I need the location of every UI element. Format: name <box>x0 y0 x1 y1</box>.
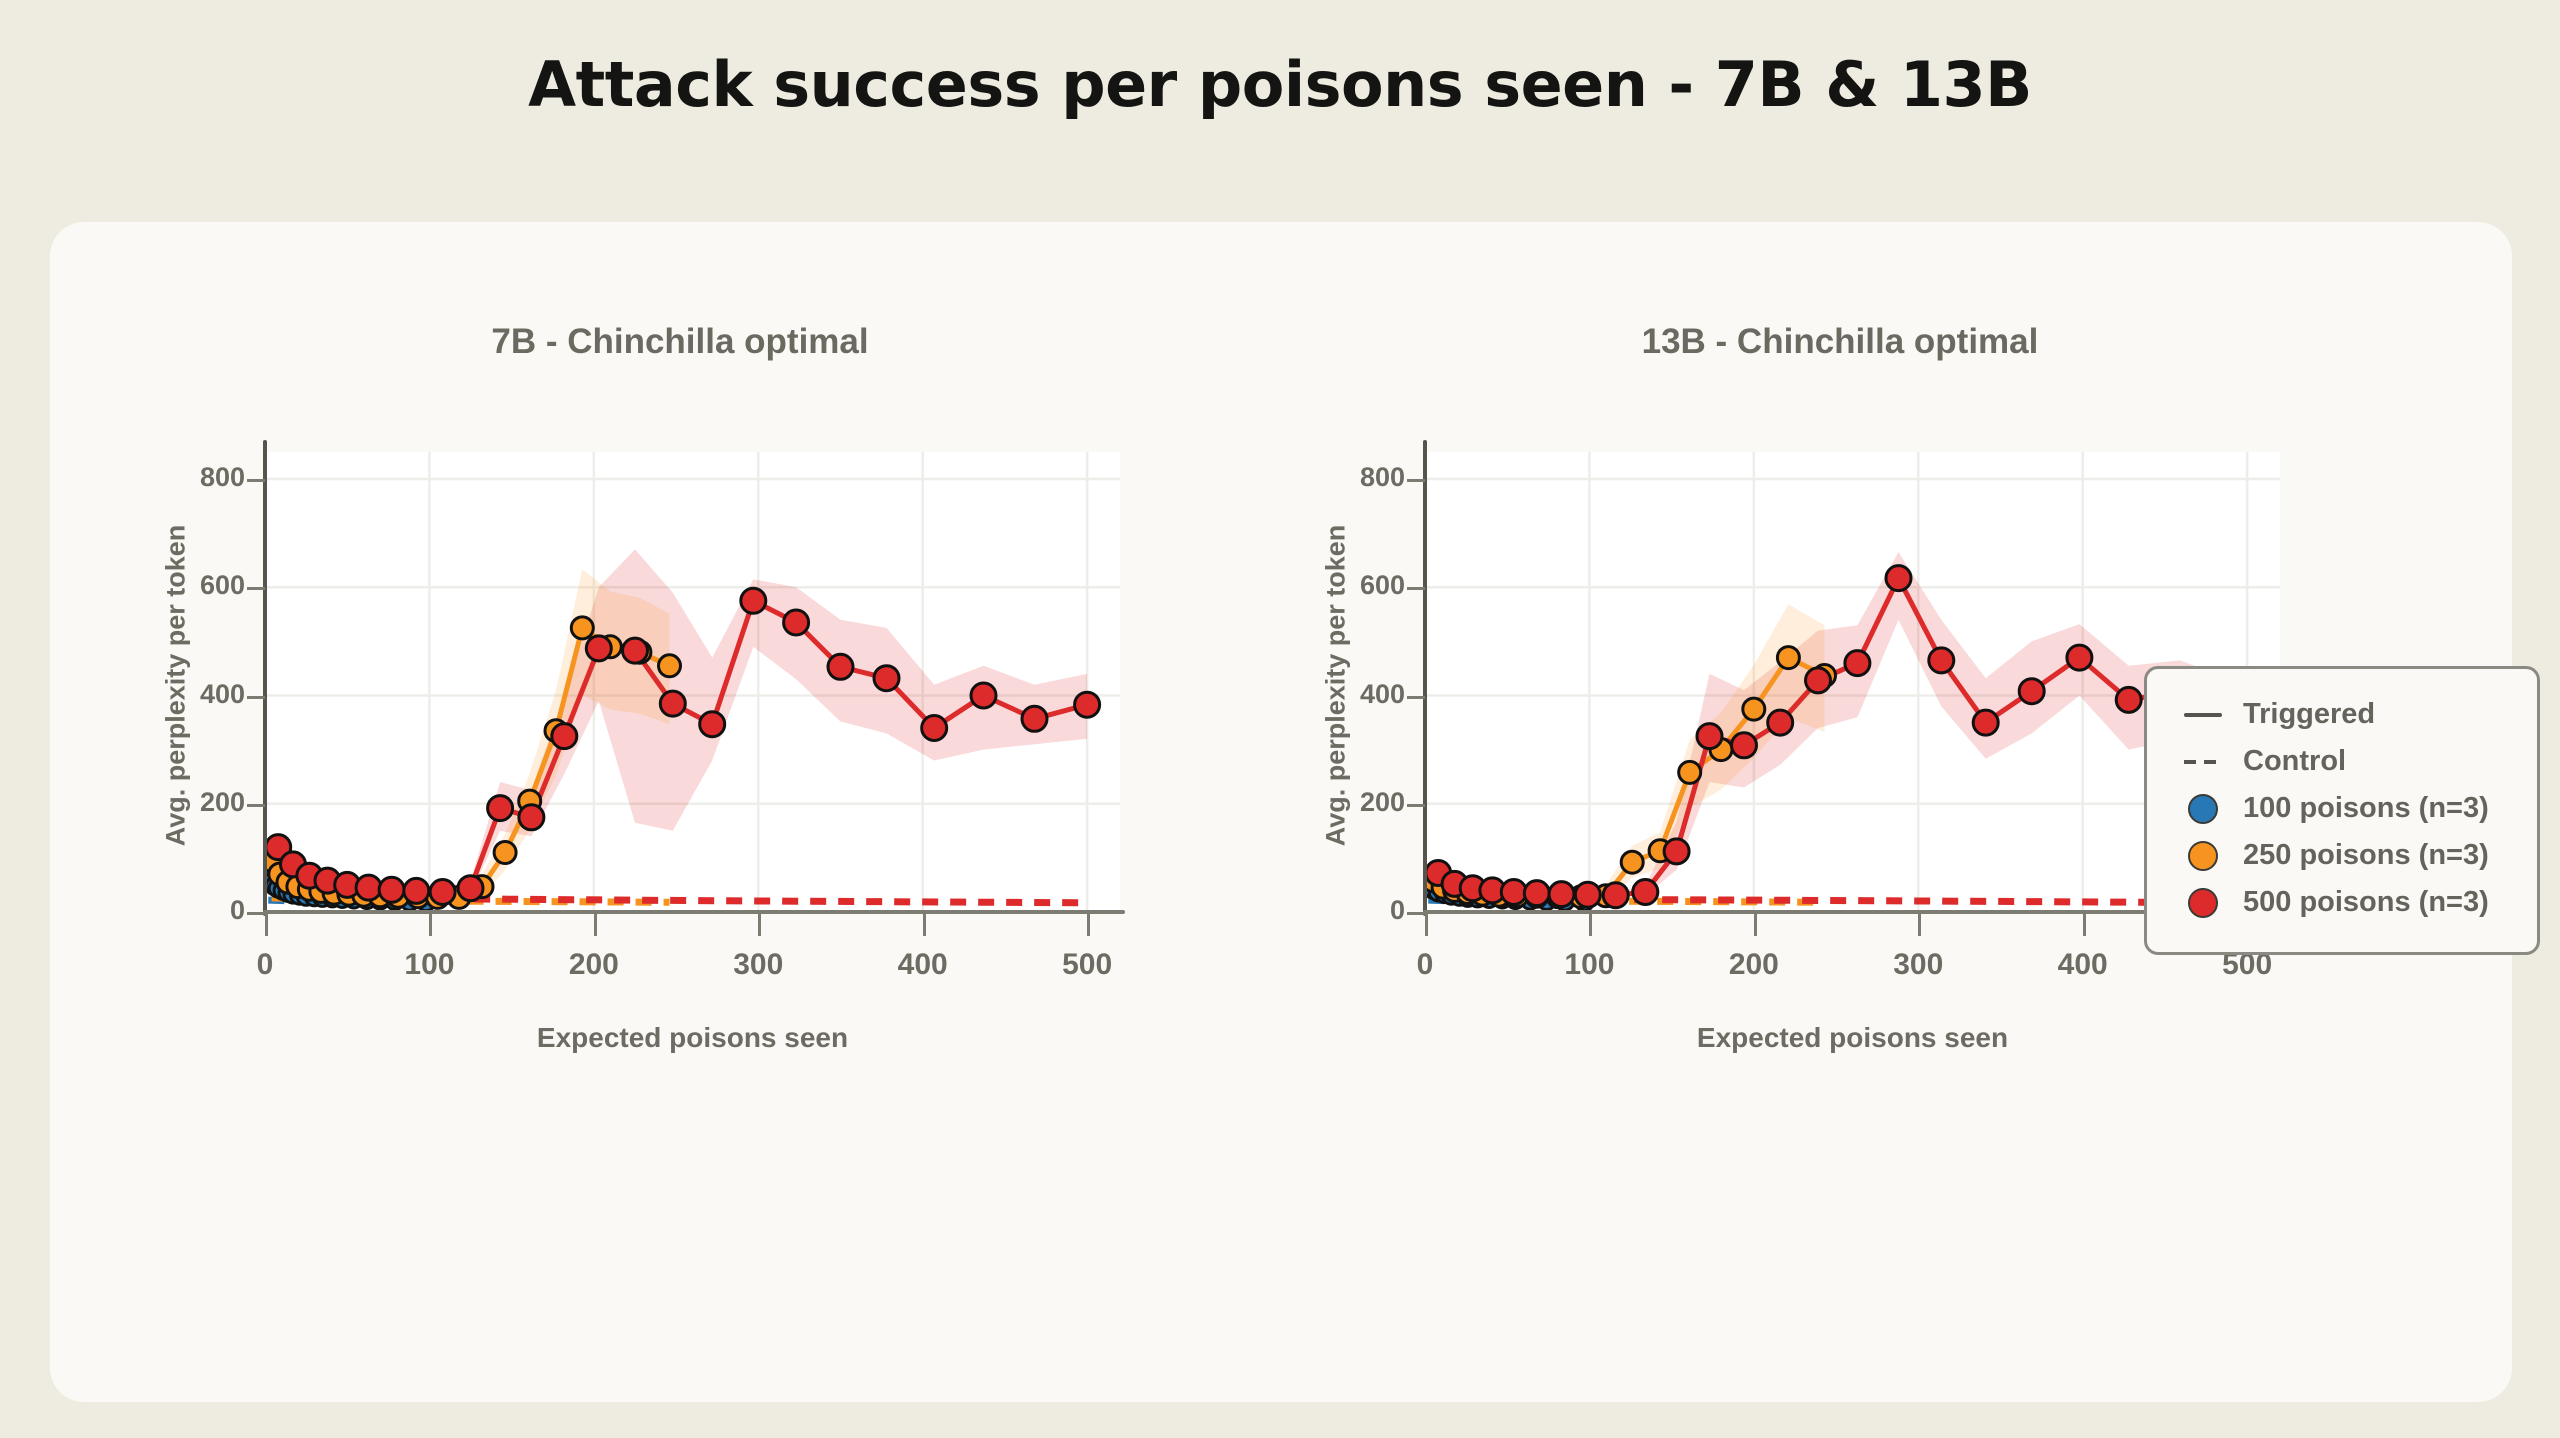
x-tick-label: 0 <box>257 948 274 982</box>
x-axis-label-13b: Expected poisons seen <box>1425 1022 2280 1054</box>
confidence-band <box>278 549 1087 895</box>
data-point-marker <box>571 617 593 639</box>
confidence-band <box>1438 552 2232 898</box>
data-point-marker <box>1664 839 1689 864</box>
data-point-marker <box>700 712 725 737</box>
y-tick-label: 200 <box>200 787 245 818</box>
y-tick <box>1407 696 1425 699</box>
y-tick-label: 0 <box>230 895 245 926</box>
y-axis-spine-7b <box>263 440 267 916</box>
marker-dot-icon <box>2175 841 2231 871</box>
x-tick <box>1425 914 1428 936</box>
x-tick-label: 300 <box>733 948 783 982</box>
marker-dot-icon <box>2175 888 2231 918</box>
data-point-marker <box>1679 761 1701 783</box>
y-axis-spine-13b <box>1423 440 1427 916</box>
legend-item-label: 250 poisons (n=3) <box>2243 839 2489 872</box>
subplot-title-7b: 7B - Chinchilla optimal <box>110 322 1250 362</box>
page-title: Attack success per poisons seen - 7B & 1… <box>0 48 2560 121</box>
chart-page: Attack success per poisons seen - 7B & 1… <box>0 0 2560 1438</box>
y-tick <box>247 696 265 699</box>
data-point-marker <box>356 875 381 900</box>
data-point-marker <box>784 610 809 635</box>
y-tick-label: 400 <box>200 679 245 710</box>
data-point-marker <box>1777 647 1799 669</box>
data-point-marker <box>2067 645 2092 670</box>
legend-item[interactable]: 250 poisons (n=3) <box>2147 832 2537 879</box>
data-point-marker <box>922 716 947 741</box>
chart-card: 7B - Chinchilla optimal 0200400600800010… <box>50 222 2512 1402</box>
data-point-marker <box>519 805 544 830</box>
x-tick <box>923 914 926 936</box>
y-tick <box>247 912 265 915</box>
y-tick <box>1407 912 1425 915</box>
y-tick-label: 200 <box>1360 787 1405 818</box>
legend-key-glyph <box>2188 794 2218 824</box>
subplot-7b: 7B - Chinchilla optimal 0200400600800010… <box>110 222 1250 1402</box>
legend-key-glyph <box>2188 888 2218 918</box>
data-point-marker <box>1732 733 1757 758</box>
data-point-marker <box>741 588 766 613</box>
data-point-marker <box>1845 651 1870 676</box>
legend-item-label: 100 poisons (n=3) <box>2243 792 2489 825</box>
y-tick <box>1407 587 1425 590</box>
plot-canvas-7b <box>265 452 1120 912</box>
x-tick <box>429 914 432 936</box>
legend-item-label: Triggered <box>2243 698 2375 731</box>
data-point-marker <box>1768 710 1793 735</box>
data-point-marker <box>1603 883 1628 908</box>
data-point-marker <box>1633 880 1658 905</box>
data-point-marker <box>379 877 404 902</box>
chart-legend: TriggeredControl100 poisons (n=3)250 poi… <box>2144 666 2540 955</box>
legend-item[interactable]: Triggered <box>2147 691 2537 738</box>
x-tick <box>1754 914 1757 936</box>
y-tick <box>247 587 265 590</box>
x-tick-label: 300 <box>1893 948 1943 982</box>
marker-dot-icon <box>2175 794 2231 824</box>
x-tick-label: 400 <box>898 948 948 982</box>
data-point-marker <box>404 878 429 903</box>
x-tick <box>758 914 761 936</box>
data-point-marker <box>1973 710 1998 735</box>
data-point-marker <box>874 666 899 691</box>
x-tick <box>1918 914 1921 936</box>
x-axis-label-7b: Expected poisons seen <box>265 1022 1120 1054</box>
data-point-marker <box>623 638 648 663</box>
legend-item[interactable]: 500 poisons (n=3) <box>2147 879 2537 926</box>
x-tick-label: 200 <box>1729 948 1779 982</box>
data-point-marker <box>1575 882 1600 907</box>
x-tick <box>1087 914 1090 936</box>
y-tick-label: 600 <box>1360 570 1405 601</box>
data-point-marker <box>1022 706 1047 731</box>
data-point-marker <box>1549 882 1574 907</box>
data-point-marker <box>971 683 996 708</box>
legend-item[interactable]: Control <box>2147 738 2537 785</box>
series-line <box>1438 578 2232 895</box>
dashed-line-icon <box>2175 760 2231 764</box>
x-tick-label: 0 <box>1417 948 1434 982</box>
data-point-marker <box>1621 851 1643 873</box>
data-point-marker <box>2116 687 2141 712</box>
x-tick-label: 200 <box>569 948 619 982</box>
y-axis-label-7b: Avg. perplexity per token <box>161 456 192 916</box>
data-point-marker <box>1501 880 1526 905</box>
data-point-marker <box>1743 698 1765 720</box>
data-point-marker <box>552 724 577 749</box>
data-point-marker <box>660 691 685 716</box>
x-tick <box>265 914 268 936</box>
y-tick <box>1407 804 1425 807</box>
x-tick <box>1589 914 1592 936</box>
legend-key-glyph <box>2184 760 2222 764</box>
data-point-marker <box>494 842 516 864</box>
subplot-title-13b: 13B - Chinchilla optimal <box>1270 322 2410 362</box>
y-tick-label: 400 <box>1360 679 1405 710</box>
y-tick <box>247 479 265 482</box>
data-point-marker <box>659 655 681 677</box>
y-tick-label: 800 <box>200 462 245 493</box>
data-point-marker <box>430 880 455 905</box>
data-point-marker <box>828 654 853 679</box>
data-point-marker <box>1929 648 1954 673</box>
data-point-marker <box>586 636 611 661</box>
legend-key-glyph <box>2188 841 2218 871</box>
legend-key-glyph <box>2184 713 2222 717</box>
y-tick-label: 0 <box>1390 895 1405 926</box>
data-point-marker <box>1075 692 1100 717</box>
data-point-marker <box>1806 668 1831 693</box>
x-tick-label: 500 <box>1062 948 1112 982</box>
legend-item-label: 500 poisons (n=3) <box>2243 886 2489 919</box>
y-tick-label: 800 <box>1360 462 1405 493</box>
solid-line-icon <box>2175 713 2231 717</box>
legend-item[interactable]: 100 poisons (n=3) <box>2147 785 2537 832</box>
data-point-marker <box>458 876 483 901</box>
x-axis-spine-7b <box>263 910 1125 914</box>
legend-item-label: Control <box>2243 745 2346 778</box>
x-tick-label: 100 <box>404 948 454 982</box>
data-point-marker <box>1886 566 1911 591</box>
y-tick <box>1407 479 1425 482</box>
x-tick <box>594 914 597 936</box>
data-point-marker <box>1524 881 1549 906</box>
x-tick-label: 100 <box>1564 948 1614 982</box>
data-point-marker <box>488 796 513 821</box>
data-point-marker <box>2019 679 2044 704</box>
x-tick <box>2083 914 2086 936</box>
plot-area-7b <box>265 452 1120 912</box>
y-tick <box>247 804 265 807</box>
x-tick-label: 400 <box>2058 948 2108 982</box>
y-axis-label-13b: Avg. perplexity per token <box>1321 456 1352 916</box>
data-point-marker <box>1697 724 1722 749</box>
y-tick-label: 600 <box>200 570 245 601</box>
